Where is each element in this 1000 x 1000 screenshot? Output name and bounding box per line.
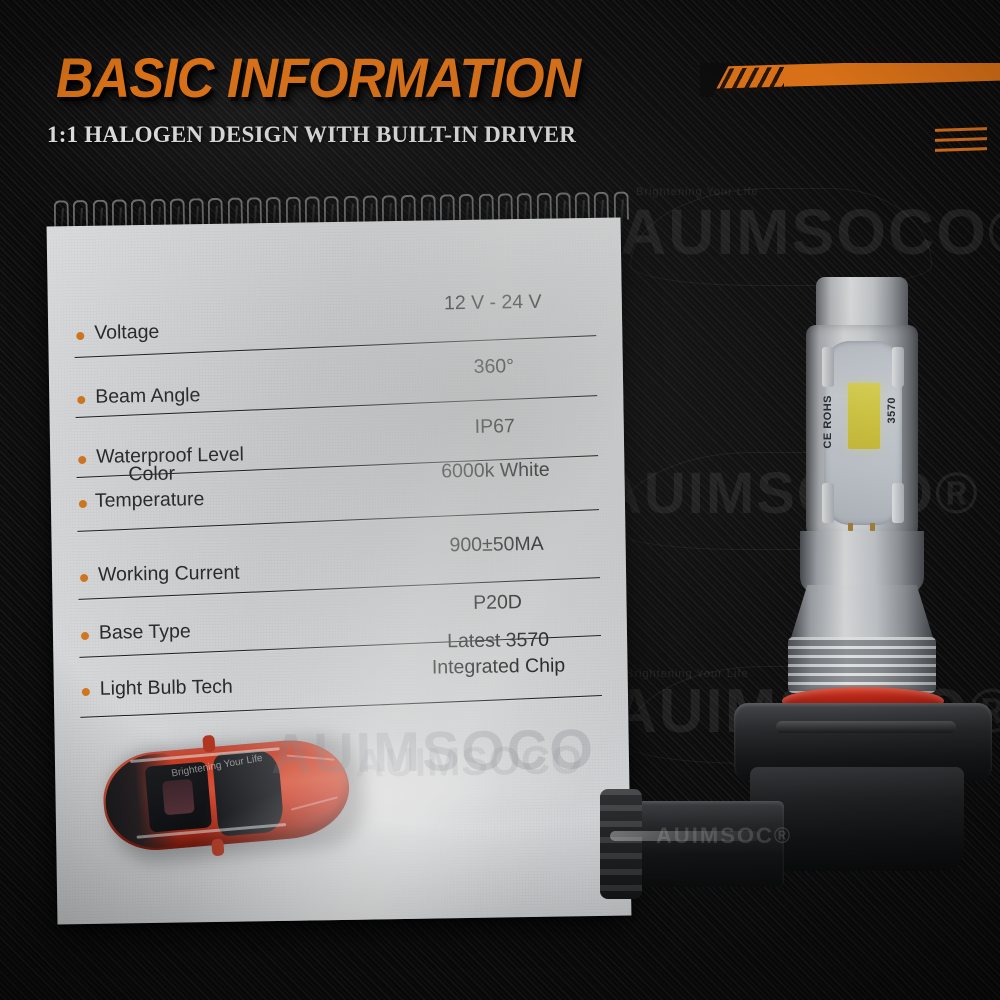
vignette-overlay (0, 0, 1000, 1000)
infographic-canvas: AUIMSOCO® AUIMSOCO® AUIMSOCO® Brightenin… (0, 0, 1000, 1000)
